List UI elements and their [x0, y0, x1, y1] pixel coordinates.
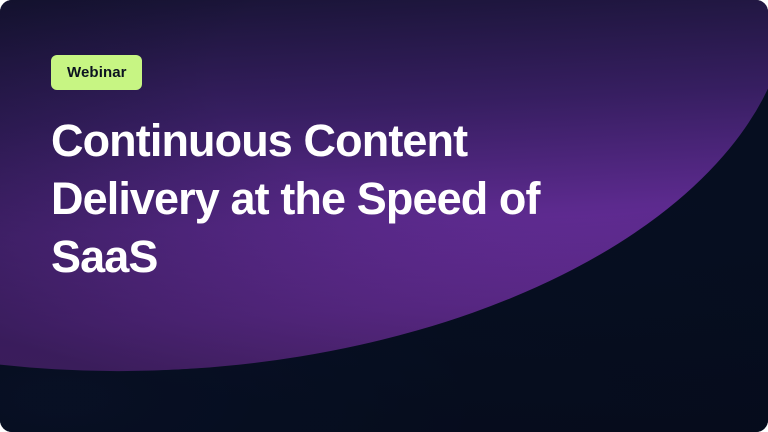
page-title-line-1: Continuous Content [51, 112, 651, 170]
page-title: Continuous Content Delivery at the Speed… [51, 112, 651, 286]
webinar-promo-card: Webinar Continuous Content Delivery at t… [0, 0, 768, 432]
page-title-line-2: Delivery at the Speed of [51, 170, 651, 228]
card-content: Webinar Continuous Content Delivery at t… [51, 55, 728, 286]
content-type-badge: Webinar [51, 55, 142, 90]
page-title-line-3: SaaS [51, 228, 651, 286]
